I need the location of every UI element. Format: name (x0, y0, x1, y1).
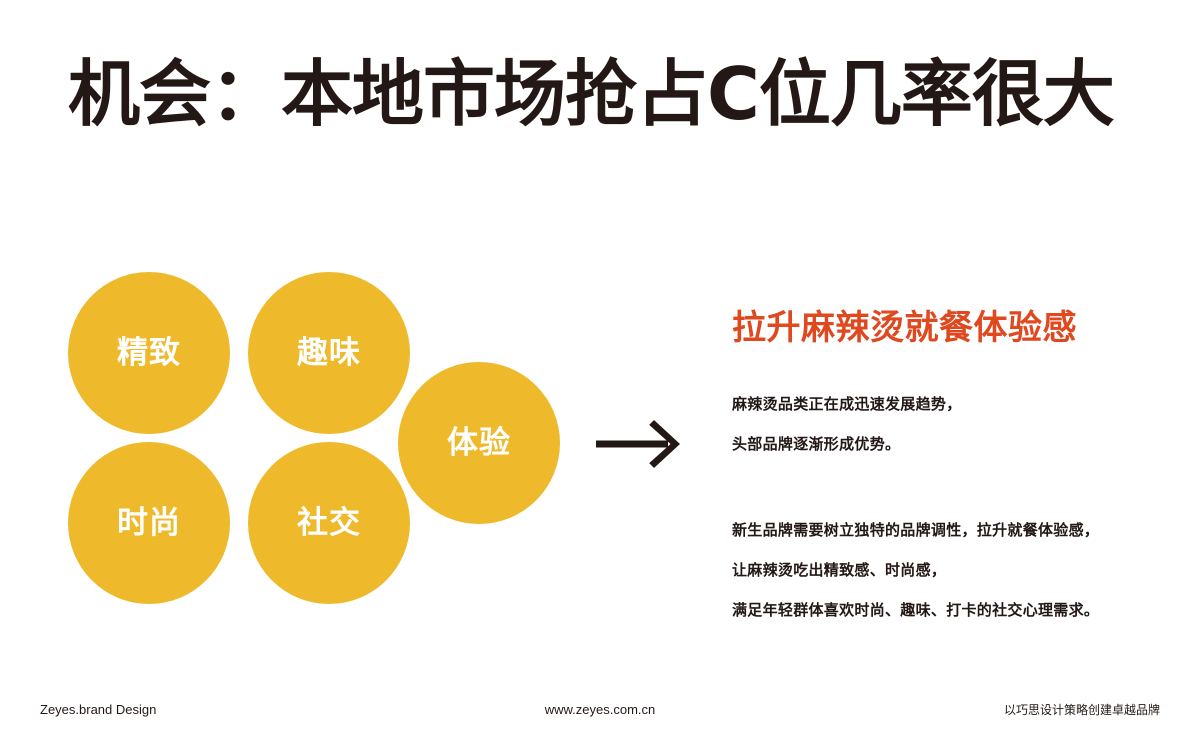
circle-shishang: 时尚 (68, 442, 230, 604)
circle-label: 趣味 (297, 338, 361, 369)
slide-canvas: 机会：本地市场抢占C位几率很大 精致 趣味 时尚 社交 体验 拉升麻辣烫就餐体验… (0, 0, 1200, 750)
circle-jingzhi: 精致 (68, 272, 230, 434)
right-text-column: 拉升麻辣烫就餐体验感 麻辣烫品类正在成迅速发展趋势， 头部品牌逐渐形成优势。 新… (732, 308, 1152, 630)
circle-label: 体验 (447, 428, 511, 459)
circle-label: 社交 (297, 508, 361, 539)
paragraph-line: 麻辣烫品类正在成迅速发展趋势， (732, 384, 1152, 424)
paragraph-two: 新生品牌需要树立独特的品牌调性，拉升就餐体验感， 让麻辣烫吃出精致感、时尚感， … (732, 510, 1152, 630)
footer-tagline: 以巧思设计策略创建卓越品牌 (1004, 700, 1160, 720)
right-arrow-icon (596, 418, 696, 470)
paragraph-line: 新生品牌需要树立独特的品牌调性，拉升就餐体验感， (732, 510, 1152, 550)
circle-shejiao: 社交 (248, 442, 410, 604)
circle-label: 时尚 (117, 508, 181, 539)
right-panel-heading: 拉升麻辣烫就餐体验感 (732, 308, 1152, 348)
paragraph-line: 让麻辣烫吃出精致感、时尚感， (732, 550, 1152, 590)
paragraph-one: 麻辣烫品类正在成迅速发展趋势， 头部品牌逐渐形成优势。 (732, 384, 1152, 464)
circle-quwei: 趣味 (248, 272, 410, 434)
circle-cluster: 精致 趣味 时尚 社交 体验 (0, 0, 600, 750)
circle-tiyan: 体验 (398, 362, 560, 524)
paragraph-line: 满足年轻群体喜欢时尚、趣味、打卡的社交心理需求。 (732, 590, 1152, 630)
slide-footer: Zeyes.brand Design www.zeyes.com.cn 以巧思设… (0, 700, 1200, 730)
paragraph-line: 头部品牌逐渐形成优势。 (732, 424, 1152, 464)
circle-label: 精致 (117, 338, 181, 369)
